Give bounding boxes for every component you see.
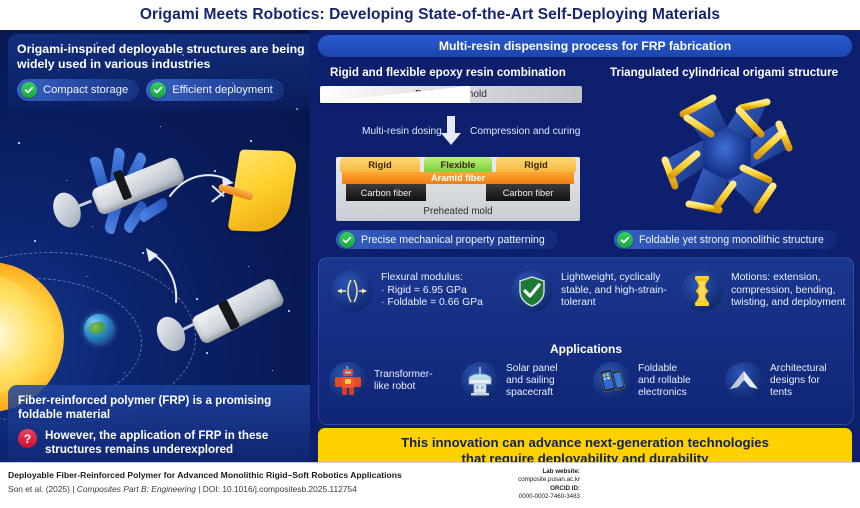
triangulated-cylindrical-origami-illustration (602, 78, 852, 228)
feature-text: Motions: extension, compression, bending… (731, 272, 845, 310)
feature-line: · Foldable = 0.66 GPa (381, 297, 483, 308)
tent-icon (725, 362, 763, 400)
application-text: Solar panel and sailing spacecraft (506, 363, 558, 400)
citation-sep: | (72, 484, 74, 494)
segment-rigid-left: Rigid (340, 157, 420, 172)
frp-question-text: However, the application of FRP in these… (45, 429, 310, 457)
footer: Deployable Fiber-Reinforced Polymer for … (0, 462, 860, 508)
carbon-fiber-label: Carbon fiber (503, 188, 554, 198)
feature-line: Motions: extension, (731, 272, 821, 283)
innovation-line-2: that require deployability and durabilit… (462, 451, 709, 462)
shield-check-icon (511, 270, 553, 312)
application-line: like robot (374, 381, 415, 392)
earth (84, 314, 114, 344)
process-banner: Multi-resin dispensing process for FRP f… (318, 35, 852, 57)
paper-title: Deployable Fiber-Reinforced Polymer for … (8, 470, 402, 480)
feature-text: Lightweight, cyclically stable, and high… (561, 272, 667, 310)
flexural-modulus-icon (331, 270, 373, 312)
citation-journal: Composites Part B: Engineering (77, 484, 196, 494)
application-foldable-electronics: Foldable and rollable electronics (593, 362, 723, 400)
preheated-mold-label: Preheated mold (415, 89, 487, 100)
application-line: electronics (638, 387, 687, 398)
segment-label: Flexible (441, 159, 476, 170)
aramid-fiber-label: Aramid fiber (431, 173, 485, 183)
feature-line: compression, bending, (731, 285, 836, 296)
carbon-fiber-left: Carbon fiber (346, 184, 426, 201)
frp-question-row: ? However, the application of FRP in the… (18, 429, 310, 457)
check-icon (21, 82, 37, 98)
citation-sep: | (198, 484, 200, 494)
applications-heading: Applications (319, 342, 853, 356)
process-label-curing: Compression and curing (470, 126, 580, 137)
segment-rigid-right: Rigid (496, 157, 576, 172)
check-icon (150, 82, 166, 98)
citation-doi: DOI: 10.1016/j.compositesb.2025.112754 (203, 484, 357, 494)
check-icon (339, 232, 355, 248)
frp-headline: Fiber-reinforced polymer (FRP) is a prom… (18, 394, 310, 422)
orcid-label: ORCID ID: (550, 485, 580, 492)
segment-label: Rigid (368, 159, 391, 170)
citation-authors: Son et al. (2025) (8, 484, 70, 494)
lab-website-url[interactable]: composite.pusan.ac.kr (518, 476, 580, 483)
page-title: Origami Meets Robotics: Developing State… (140, 6, 720, 24)
properties-applications-box: Flexural modulus: · Rigid = 6.95 GPa · F… (318, 257, 854, 425)
application-spacecraft: Solar panel and sailing spacecraft (461, 362, 591, 400)
segment-label: Rigid (524, 159, 547, 170)
application-text: Foldable and rollable electronics (638, 363, 691, 400)
lab-contact-block: Lab website: composite.pusan.ac.kr ORCID… (488, 468, 580, 502)
transformer-robot-icon (329, 362, 367, 400)
left-space-scene: Origami-inspired deployable structures a… (0, 30, 310, 462)
application-line: Solar panel (506, 363, 558, 374)
left-pill-row: Compact storage Efficient deployment (17, 79, 310, 101)
feature-line: twisting, and deployment (731, 297, 845, 308)
check-pill-precise-patterning[interactable]: Precise mechanical property patterning (336, 230, 558, 249)
application-line: Foldable (638, 363, 677, 374)
application-text: Transformer- like robot (374, 369, 433, 393)
question-mark-icon: ? (18, 429, 37, 448)
pill-compact-storage[interactable]: Compact storage (17, 79, 139, 101)
spacecraft-icon (461, 362, 499, 400)
application-transformer-robot: Transformer- like robot (329, 362, 459, 400)
lab-website-label: Lab website: (543, 468, 580, 475)
check-pill-label: Foldable yet strong monolithic structure (639, 234, 824, 246)
application-line: and sailing (506, 375, 555, 386)
infographic-page: Origami Meets Robotics: Developing State… (0, 0, 860, 508)
left-headline: Origami-inspired deployable structures a… (17, 42, 310, 71)
orcid-id: 0000-0002-7460-3483 (519, 493, 580, 500)
application-text: Architectural designs for tents (770, 363, 827, 400)
carbon-fiber-right: Carbon fiber (486, 184, 570, 201)
feature-line: tolerant (561, 297, 596, 308)
feature-flexural-modulus: Flexural modulus: · Rigid = 6.95 GPa · F… (331, 270, 501, 312)
feature-line: Flexural modulus: (381, 272, 463, 283)
down-arrow-icon (440, 116, 462, 146)
application-line: Architectural (770, 363, 827, 374)
innovation-line-1: This innovation can advance next-generat… (401, 435, 769, 451)
application-architectural-tents: Architectural designs for tents (725, 362, 855, 400)
epoxy-section-heading: Rigid and flexible epoxy resin combinati… (330, 66, 566, 79)
foldable-phone-icon (593, 362, 631, 400)
feature-line: Lightweight, cyclically (561, 272, 660, 283)
check-icon (617, 232, 633, 248)
innovation-banner: This innovation can advance next-generat… (318, 428, 852, 462)
segment-flexible: Flexible (424, 157, 492, 172)
pill-efficient-deployment[interactable]: Efficient deployment (146, 79, 284, 101)
paper-citation: Son et al. (2025) | Composites Part B: E… (8, 484, 357, 494)
frp-callout-box: Fiber-reinforced polymer (FRP) is a prom… (8, 385, 310, 462)
left-headline-box: Origami-inspired deployable structures a… (8, 34, 310, 110)
right-process-panel: Multi-resin dispensing process for FRP f… (310, 30, 860, 462)
feature-motions: Motions: extension, compression, bending… (681, 270, 851, 312)
feature-line: · Rigid = 6.95 GPa (381, 285, 467, 296)
application-line: and rollable (638, 375, 691, 386)
deployment-arrow-lower (140, 244, 184, 306)
application-line: Transformer- (374, 369, 433, 380)
feature-lightweight-stable: Lightweight, cyclically stable, and high… (511, 270, 671, 312)
preheated-mold-bar: Preheated mold (320, 86, 582, 103)
process-banner-label: Multi-resin dispensing process for FRP f… (439, 39, 731, 53)
application-line: tents (770, 387, 792, 398)
main-canvas: Origami-inspired deployable structures a… (0, 30, 860, 462)
check-pill-foldable-monolithic[interactable]: Foldable yet strong monolithic structure (614, 230, 837, 249)
feature-line: stable, and high-strain- (561, 285, 667, 296)
check-pill-label: Precise mechanical property patterning (361, 234, 545, 246)
bellows-motion-icon (681, 270, 723, 312)
pill-label: Efficient deployment (172, 84, 273, 96)
page-title-bar: Origami Meets Robotics: Developing State… (0, 0, 860, 30)
deployment-arrow-upper (168, 170, 238, 204)
pill-label: Compact storage (43, 84, 128, 96)
footer-divider (0, 462, 860, 463)
carbon-fiber-label: Carbon fiber (361, 188, 412, 198)
aramid-fiber-layer: Aramid fiber (342, 172, 574, 184)
application-line: spacecraft (506, 387, 553, 398)
feature-text: Flexural modulus: · Rigid = 6.95 GPa · F… (381, 272, 483, 310)
stack-base-label: Preheated mold (336, 201, 580, 221)
application-line: designs for (770, 375, 820, 386)
process-label-dosing: Multi-resin dosing (362, 126, 442, 137)
